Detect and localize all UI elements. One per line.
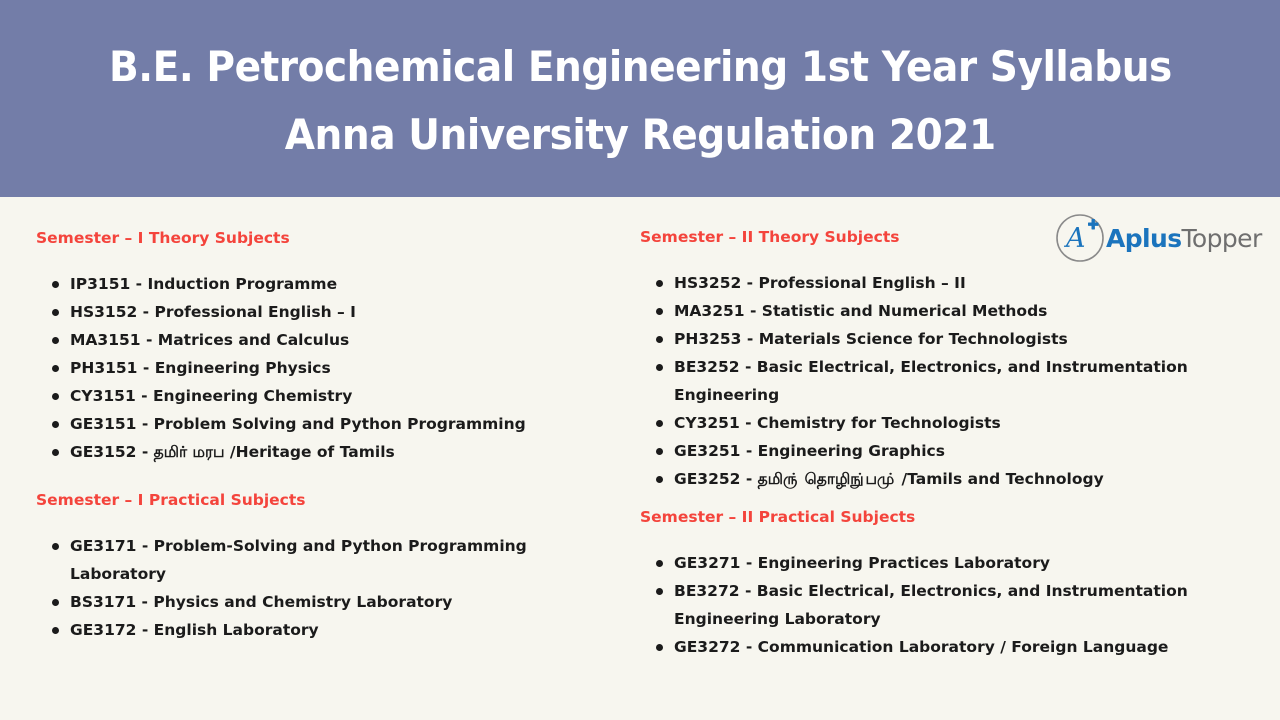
- subject-list-item: GE3152 - தமிர் மரப /Heritage of Tamils: [36, 438, 596, 466]
- subject-list-item: BE3272 - Basic Electrical, Electronics, …: [640, 577, 1240, 633]
- page-header-banner: B.E. Petrochemical Engineering 1st Year …: [0, 0, 1280, 197]
- subject-list-item: PH3151 - Engineering Physics: [36, 354, 596, 382]
- semester-2-theory-list: HS3252 - Professional English – IIMA3251…: [640, 269, 1240, 493]
- semester-1-theory-heading: Semester – I Theory Subjects: [36, 228, 630, 248]
- subject-list-item: GE3271 - Engineering Practices Laborator…: [640, 549, 1240, 577]
- subject-list-item: GE3171 - Problem-Solving and Python Prog…: [36, 532, 596, 588]
- subject-list-item: GE3172 - English Laboratory: [36, 616, 596, 644]
- semester-1-practical-heading: Semester – I Practical Subjects: [36, 490, 630, 510]
- subject-list-item: GE3272 - Communication Laboratory / Fore…: [640, 633, 1240, 661]
- subject-list-item: IP3151 - Induction Programme: [36, 270, 596, 298]
- logo-text-topper: Topper: [1182, 224, 1262, 253]
- semester-2-practical-heading: Semester – II Practical Subjects: [640, 507, 1280, 527]
- subject-list-item: MA3151 - Matrices and Calculus: [36, 326, 596, 354]
- spacer: [640, 493, 1280, 507]
- subject-list-item: BS3171 - Physics and Chemistry Laborator…: [36, 588, 596, 616]
- subject-list-item: GE3252 - தமிரு் தொழிநு்பமு் /Tamils and …: [640, 465, 1240, 493]
- svg-text:A: A: [1063, 223, 1086, 254]
- logo-wordmark: AplusTopper: [1106, 224, 1262, 253]
- subject-list-item: GE3251 - Engineering Graphics: [640, 437, 1240, 465]
- syllabus-page: B.E. Petrochemical Engineering 1st Year …: [0, 0, 1280, 720]
- semester-2-column: Semester – II Theory Subjects HS3252 - P…: [630, 197, 1280, 720]
- subject-list-item: BE3252 - Basic Electrical, Electronics, …: [640, 353, 1240, 409]
- page-title-line-2: Anna University Regulation 2021: [285, 101, 996, 169]
- aplustopper-logo[interactable]: A AplusTopper: [1055, 212, 1259, 264]
- semester-2-practical-list: GE3271 - Engineering Practices Laborator…: [640, 549, 1240, 661]
- subject-list-item: CY3151 - Engineering Chemistry: [36, 382, 596, 410]
- semester-1-column: Semester – I Theory Subjects IP3151 - In…: [0, 197, 630, 720]
- logo-text-aplus: Aplus: [1106, 224, 1182, 253]
- syllabus-content: Semester – I Theory Subjects IP3151 - In…: [0, 197, 1280, 720]
- subject-list-item: HS3252 - Professional English – II: [640, 269, 1240, 297]
- spacer: [36, 466, 630, 490]
- subject-list-item: HS3152 - Professional English – I: [36, 298, 596, 326]
- semester-1-theory-list: IP3151 - Induction ProgrammeHS3152 - Pro…: [36, 270, 596, 466]
- subject-list-item: MA3251 - Statistic and Numerical Methods: [640, 297, 1240, 325]
- subject-list-item: PH3253 - Materials Science for Technolog…: [640, 325, 1240, 353]
- subject-list-item: GE3151 - Problem Solving and Python Prog…: [36, 410, 596, 438]
- subject-list-item: CY3251 - Chemistry for Technologists: [640, 409, 1240, 437]
- page-title-line-1: B.E. Petrochemical Engineering 1st Year …: [109, 33, 1172, 101]
- semester-1-practical-list: GE3171 - Problem-Solving and Python Prog…: [36, 532, 596, 644]
- a-plus-circle-icon: A: [1055, 213, 1105, 263]
